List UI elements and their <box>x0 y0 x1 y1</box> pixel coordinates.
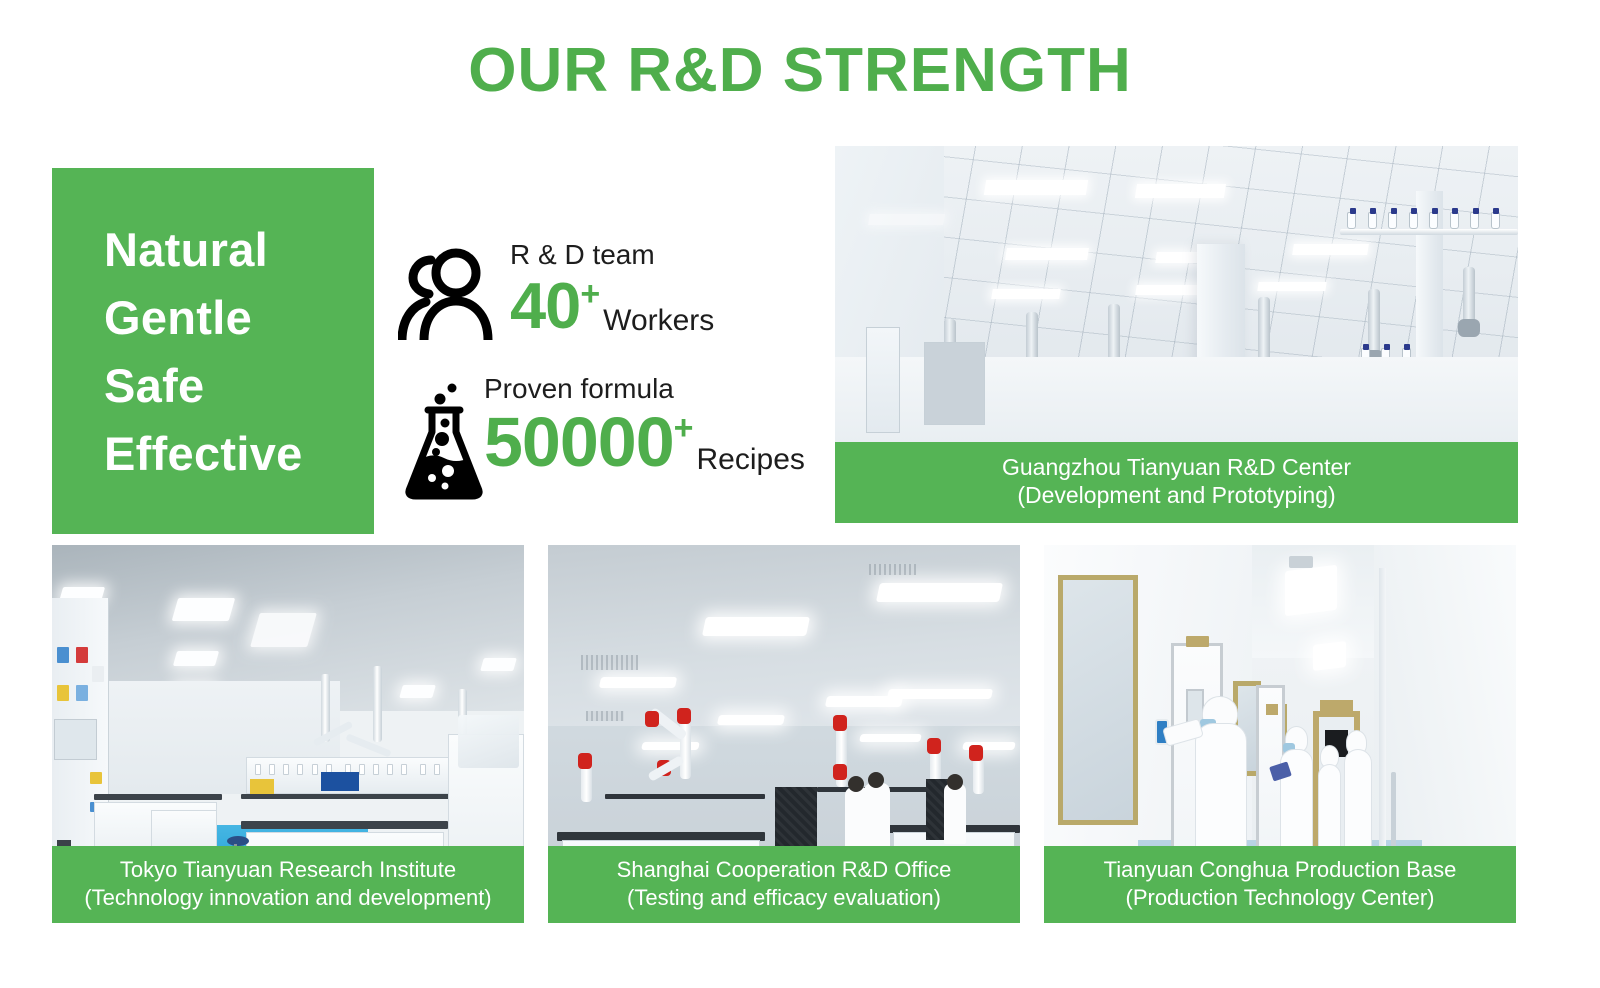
caption-line-1: Tianyuan Conghua Production Base <box>1104 857 1457 882</box>
tokyo-research-institute-photo: Tokyo Tianyuan Research Institute (Techn… <box>52 545 524 923</box>
stats-group: R & D team 40 + Workers <box>398 240 828 502</box>
stat-plus-recipes: + <box>674 409 694 448</box>
stat-label-rd-team: R & D team <box>510 240 714 271</box>
slogan-line-natural: Natural <box>104 216 374 284</box>
tokyo-photo-caption: Tokyo Tianyuan Research Institute (Techn… <box>52 846 524 923</box>
rd-strength-banner: OUR R&D STRENGTH Natural Gentle Safe Eff… <box>0 0 1600 988</box>
stat-number-workers: 40 <box>510 273 580 338</box>
stat-proven-formula: Proven formula 50000 + Recipes <box>398 374 828 502</box>
slogan-panel: Natural Gentle Safe Effective <box>52 168 374 534</box>
shanghai-cooperation-office-photo: Shanghai Cooperation R&D Office (Testing… <box>548 545 1020 923</box>
caption-line-1: Shanghai Cooperation R&D Office <box>617 857 952 882</box>
caption-line-2: (Development and Prototyping) <box>841 481 1512 510</box>
slogan-line-gentle: Gentle <box>104 284 374 352</box>
caption-line-1: Guangzhou Tianyuan R&D Center <box>1002 454 1351 480</box>
guangzhou-photo-caption: Guangzhou Tianyuan R&D Center (Developme… <box>835 442 1518 524</box>
stat-rd-team-text: R & D team 40 + Workers <box>510 240 714 338</box>
stat-proven-formula-text: Proven formula 50000 + Recipes <box>484 374 805 477</box>
caption-line-2: (Testing and efficacy evaluation) <box>554 884 1014 912</box>
page-title: OUR R&D STRENGTH <box>0 38 1600 103</box>
slogan-line-effective: Effective <box>104 420 374 488</box>
caption-line-2: (Production Technology Center) <box>1050 884 1510 912</box>
caption-line-2: (Technology innovation and development) <box>58 884 518 912</box>
stat-unit-recipes: Recipes <box>697 443 805 477</box>
flask-icon <box>398 382 490 507</box>
slogan-line-safe: Safe <box>104 352 374 420</box>
stat-rd-team: R & D team 40 + Workers <box>398 240 828 368</box>
stat-unit-workers: Workers <box>603 304 714 338</box>
stat-number-recipes: 50000 <box>484 407 674 477</box>
guangzhou-rd-center-photo: Guangzhou Tianyuan R&D Center (Developme… <box>835 146 1518 523</box>
conghua-photo-caption: Tianyuan Conghua Production Base (Produc… <box>1044 846 1516 923</box>
stat-label-proven-formula: Proven formula <box>484 374 805 405</box>
shanghai-photo-caption: Shanghai Cooperation R&D Office (Testing… <box>548 846 1020 923</box>
stat-plus-workers: + <box>580 275 600 314</box>
caption-line-1: Tokyo Tianyuan Research Institute <box>120 857 456 882</box>
users-icon <box>398 248 498 345</box>
conghua-production-base-photo: Tianyuan Conghua Production Base (Produc… <box>1044 545 1516 923</box>
